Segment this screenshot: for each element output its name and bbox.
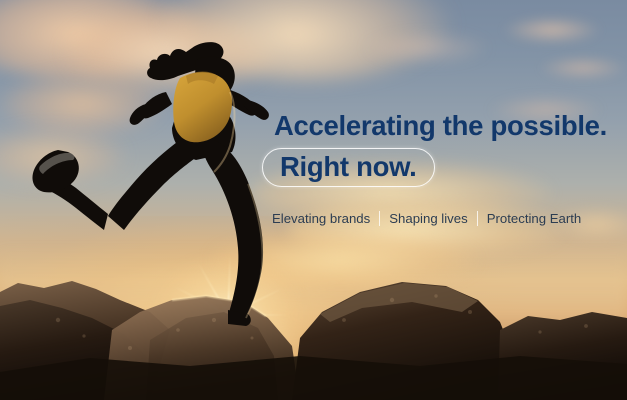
tagline-divider: [477, 211, 478, 226]
headline-line-2: Right now.: [280, 151, 417, 182]
right-now-pill: Right now.: [262, 148, 435, 187]
tagline-divider: [379, 211, 380, 226]
headline-line-1: Accelerating the possible.: [274, 112, 610, 140]
hero-banner: Accelerating the possible. Right now. El…: [0, 0, 627, 400]
tagline-segment-2: Shaping lives: [389, 211, 467, 226]
tagline: Elevating brands Shaping lives Protectin…: [272, 211, 610, 226]
copy-block: Accelerating the possible. Right now. El…: [274, 112, 610, 226]
tagline-segment-1: Elevating brands: [272, 211, 370, 226]
pill-row: Right now.: [262, 148, 610, 187]
tagline-segment-3: Protecting Earth: [487, 211, 582, 226]
